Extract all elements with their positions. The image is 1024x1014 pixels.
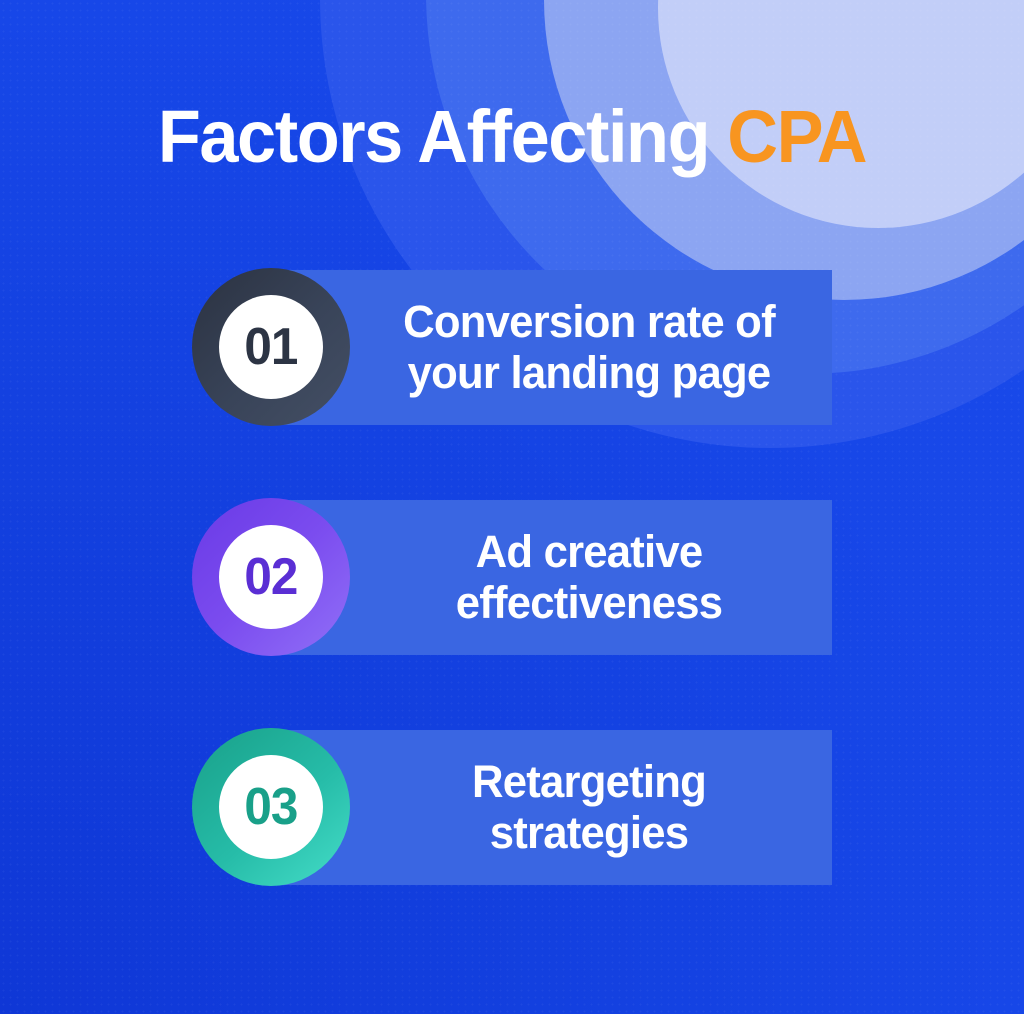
factor-label-3-line-1: Retargeting (472, 756, 706, 807)
list-item: Conversion rate of your landing page 01 (192, 270, 832, 425)
factor-label-3: Retargeting strategies (379, 757, 800, 858)
factor-number-3: 03 (244, 781, 297, 833)
factor-label-1-line-1: Conversion rate of (403, 296, 775, 347)
factor-panel-3: Retargeting strategies (282, 730, 832, 885)
factor-number-1: 01 (244, 321, 297, 373)
factor-list: Conversion rate of your landing page 01 … (0, 270, 1024, 885)
list-item: Ad creative effectiveness 02 (192, 500, 832, 655)
factor-badge-2-inner: 02 (219, 525, 323, 629)
factor-label-1-line-2: your landing page (408, 347, 771, 398)
factor-label-1: Conversion rate of your landing page (379, 297, 800, 398)
factor-number-2: 02 (244, 551, 297, 603)
factor-label-2-line-2: effectiveness (456, 577, 723, 628)
factor-label-2-line-1: Ad creative (476, 526, 703, 577)
infographic-poster: Factors Affecting CPA Conversion rate of… (0, 0, 1024, 1014)
factor-badge-3-inner: 03 (219, 755, 323, 859)
factor-panel-1: Conversion rate of your landing page (282, 270, 832, 425)
factor-panel-2: Ad creative effectiveness (282, 500, 832, 655)
factor-badge-1: 01 (192, 268, 350, 426)
factor-badge-2: 02 (192, 498, 350, 656)
page-title: Factors Affecting CPA (26, 100, 999, 174)
factor-label-2: Ad creative effectiveness (379, 527, 800, 628)
factor-label-3-line-2: strategies (490, 807, 688, 858)
factor-badge-1-inner: 01 (219, 295, 323, 399)
page-title-accent: CPA (727, 95, 866, 178)
list-item: Retargeting strategies 03 (192, 730, 832, 885)
factor-badge-3: 03 (192, 728, 350, 886)
page-title-main: Factors Affecting (158, 95, 709, 178)
